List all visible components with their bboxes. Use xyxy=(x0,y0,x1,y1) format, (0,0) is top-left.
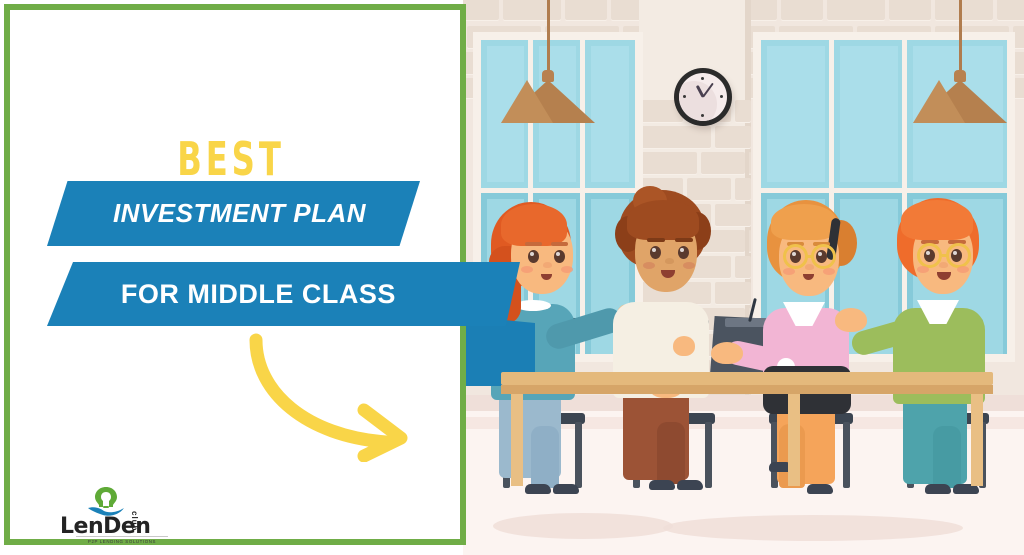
person-eye xyxy=(554,250,565,263)
lendenclub-logo: LenDen club P2P LENDING SOLUTIONS xyxy=(60,486,180,544)
table-leg xyxy=(788,394,800,486)
person-cheek xyxy=(521,266,533,273)
logo-tagline: P2P LENDING SOLUTIONS xyxy=(76,536,168,544)
person-brow xyxy=(647,238,665,242)
person-shoe xyxy=(807,484,833,494)
person-shoe xyxy=(677,480,703,490)
window-pane-highlight xyxy=(767,46,825,182)
table-edge xyxy=(501,385,993,394)
table-leg xyxy=(971,394,983,486)
person-nose xyxy=(543,262,552,268)
person-shin xyxy=(531,426,559,488)
person-brow xyxy=(551,242,568,246)
poster-canvas: BEST INVESTMENT PLAN FOR MIDDLE CLASS Le… xyxy=(0,0,1024,555)
chair-leg xyxy=(843,422,850,488)
person-fringe xyxy=(901,200,973,240)
person-shin xyxy=(657,422,685,484)
table-top xyxy=(501,372,993,385)
person-cheek xyxy=(561,266,573,273)
window-pane-highlight xyxy=(840,46,898,182)
person-eye xyxy=(528,250,539,263)
glasses-bridge xyxy=(942,254,948,257)
person-hand xyxy=(711,342,743,364)
person-fringe xyxy=(501,204,567,246)
person-brow xyxy=(675,238,693,242)
person-nose xyxy=(665,258,674,264)
table-leg xyxy=(511,394,523,486)
lamp-shade-highlight xyxy=(501,80,553,123)
glasses-bridge xyxy=(807,255,813,258)
person-shoe xyxy=(649,480,675,490)
person-eye xyxy=(678,246,689,259)
person-cheek xyxy=(783,268,795,275)
wall-clock xyxy=(674,68,732,126)
curved-arrow-icon xyxy=(246,332,436,462)
person-shoe xyxy=(525,484,551,494)
clock-tick xyxy=(701,114,704,117)
person-cheek xyxy=(683,262,695,269)
clock-tick xyxy=(701,77,704,80)
logo-superscript: club xyxy=(130,511,139,531)
floor-shadow xyxy=(663,515,963,541)
clipboard-clip xyxy=(725,318,767,327)
person-hand xyxy=(835,308,867,332)
clock-tick xyxy=(720,95,723,98)
person-shoe xyxy=(925,484,951,494)
banner-line1-text: INVESTMENT PLAN xyxy=(47,181,420,246)
eyebrow-text: BEST xyxy=(51,132,411,186)
person-nose xyxy=(805,264,814,270)
business-meeting-illustration xyxy=(463,0,1024,555)
banner-for-middle-class: FOR MIDDLE CLASS xyxy=(47,262,520,326)
lamp-shade-highlight xyxy=(913,80,965,123)
banner-line2-text: FOR MIDDLE CLASS xyxy=(47,262,454,326)
person-shin xyxy=(933,426,961,488)
person-shoe xyxy=(553,484,579,494)
chair-leg xyxy=(575,422,582,488)
chair-leg xyxy=(705,422,712,488)
clock-tick xyxy=(683,95,686,98)
glasses-lens xyxy=(811,244,836,269)
glasses-lens xyxy=(946,243,971,268)
person-cheek xyxy=(957,266,969,273)
person-hand xyxy=(673,336,695,356)
person-cheek xyxy=(643,262,655,269)
lightbulb-in-hand-icon xyxy=(86,486,126,516)
person-cheek xyxy=(917,266,929,273)
window-pane-highlight xyxy=(591,46,629,182)
floor-shadow xyxy=(493,513,673,539)
person-fringe xyxy=(771,204,837,240)
banner-investment-plan: INVESTMENT PLAN xyxy=(47,181,420,246)
lamp-cord xyxy=(547,0,550,72)
person-fringe xyxy=(627,200,699,240)
person-brow xyxy=(525,242,542,246)
person-nose xyxy=(939,262,948,268)
person-cheek xyxy=(823,268,835,275)
lamp-cord xyxy=(959,0,962,72)
person-eye xyxy=(650,246,661,259)
